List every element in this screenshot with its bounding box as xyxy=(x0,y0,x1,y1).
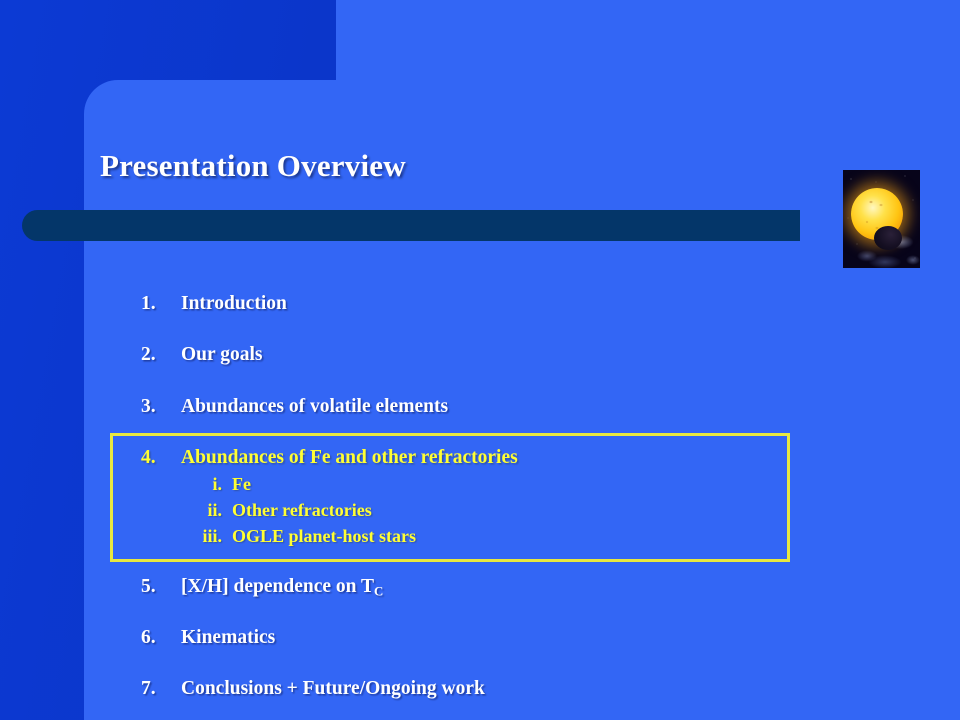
list-item-number: 4. xyxy=(141,447,173,469)
list-item-number: 1. xyxy=(141,293,173,315)
list-item-number: 7. xyxy=(141,678,173,700)
subscript-c: C xyxy=(374,585,383,599)
sub-list-item-label: Fe xyxy=(232,474,251,495)
sub-list-item-number: ii. xyxy=(190,500,222,521)
list-item-label: Kinematics xyxy=(181,627,275,649)
list-item-number: 3. xyxy=(141,396,173,418)
sub-list-item-label: OGLE planet-host stars xyxy=(232,526,416,547)
list-item-number: 2. xyxy=(141,344,173,366)
sub-list-item-number: iii. xyxy=(190,526,222,547)
list-item-number: 5. xyxy=(141,576,173,598)
list-item-label: Conclusions + Future/Ongoing work xyxy=(181,678,485,700)
sub-list-item-number: i. xyxy=(190,474,222,495)
list-item-number: 6. xyxy=(141,627,173,649)
list-item-label: Our goals xyxy=(181,344,262,366)
presentation-slide: Presentation Overview 1. Introduction 2.… xyxy=(0,0,960,720)
sub-list-item-label: Other refractories xyxy=(232,500,372,521)
list-item-label: [X/H] dependence on TC xyxy=(181,576,383,600)
list-item-label: Introduction xyxy=(181,293,287,315)
outline-list: 1. Introduction 2. Our goals 3. Abundanc… xyxy=(0,0,960,720)
list-item-label: Abundances of Fe and other refractories xyxy=(181,447,518,469)
list-item-label-text: [X/H] dependence on T xyxy=(181,576,374,597)
star-planet-thumbnail xyxy=(843,170,920,268)
list-item-label: Abundances of volatile elements xyxy=(181,396,448,418)
planet-icon xyxy=(874,226,902,250)
